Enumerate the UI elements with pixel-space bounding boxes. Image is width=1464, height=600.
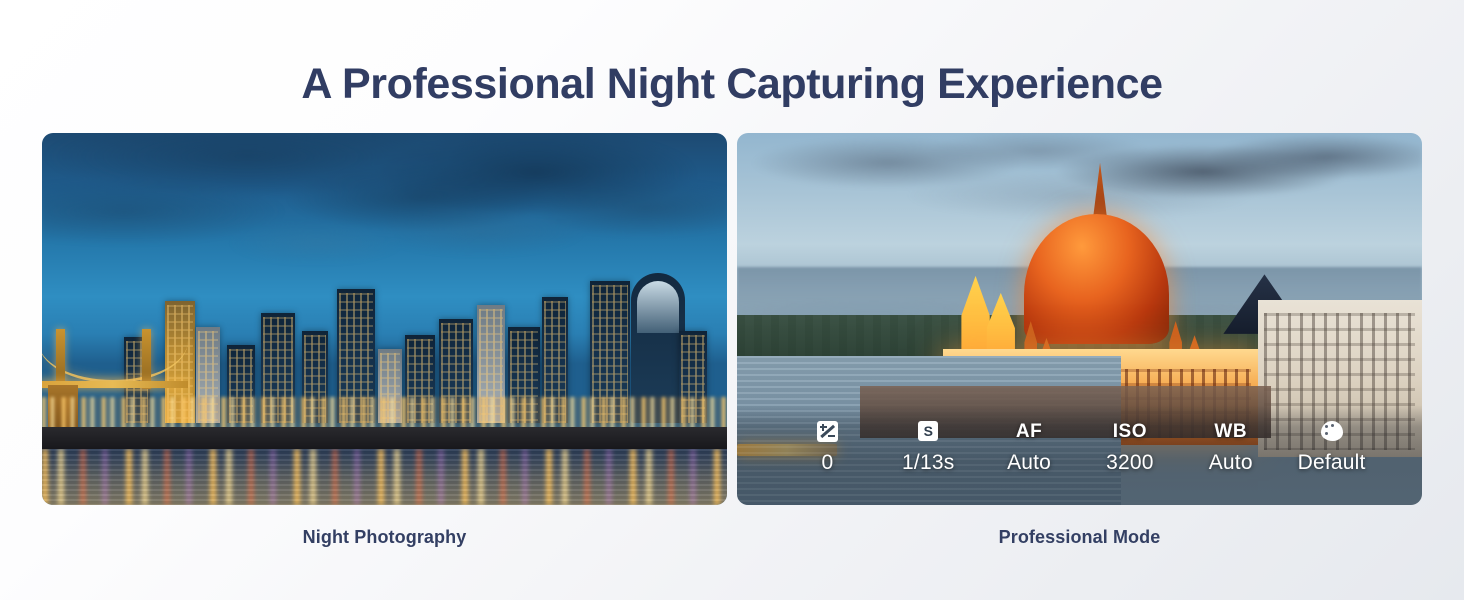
- camera-control-iso[interactable]: ISO 3200: [1079, 419, 1180, 473]
- panel-captions: Night Photography Professional Mode: [42, 527, 1422, 557]
- central-dome: [1024, 214, 1169, 344]
- white-balance-icon: WB: [1214, 419, 1247, 443]
- promo-banner: A Professional Night Capturing Experienc…: [0, 0, 1464, 600]
- camera-control-focus[interactable]: AF Auto: [979, 419, 1080, 473]
- white-balance-icon-label: WB: [1214, 422, 1247, 441]
- color-style-value: Default: [1298, 452, 1366, 473]
- camera-control-shutter[interactable]: S 1/13s: [878, 419, 979, 473]
- exposure-value: 0: [821, 452, 833, 473]
- bridge-pylon: [142, 329, 151, 389]
- caption-night-photography: Night Photography: [42, 527, 727, 557]
- shutter-value: 1/13s: [902, 452, 954, 473]
- color-style-palette-icon: [1321, 419, 1343, 443]
- white-balance-value: Auto: [1209, 452, 1253, 473]
- camera-control-overlay[interactable]: 0 S 1/13s AF Auto ISO: [737, 405, 1422, 505]
- page-title: A Professional Night Capturing Experienc…: [0, 60, 1464, 109]
- shutter-speed-icon: S: [918, 419, 938, 443]
- camera-control-white-balance[interactable]: WB Auto: [1180, 419, 1281, 473]
- image-panels: 0 S 1/13s AF Auto ISO: [42, 133, 1422, 505]
- iso-icon-label: ISO: [1113, 422, 1147, 441]
- bridge-pylon: [56, 329, 65, 389]
- exposure-compensation-icon: [817, 419, 838, 443]
- iso-value: 3200: [1106, 452, 1154, 473]
- riverbank: [42, 427, 727, 449]
- iso-icon: ISO: [1113, 419, 1147, 443]
- focus-value: Auto: [1007, 452, 1051, 473]
- camera-control-color-style[interactable]: Default: [1281, 419, 1382, 473]
- shutter-icon-label: S: [918, 421, 938, 441]
- caption-professional-mode: Professional Mode: [737, 527, 1422, 557]
- panel-professional-mode: 0 S 1/13s AF Auto ISO: [737, 133, 1422, 505]
- camera-control-exposure[interactable]: 0: [777, 419, 878, 473]
- river-reflections: [42, 449, 727, 505]
- autofocus-icon-label: AF: [1016, 422, 1042, 441]
- panel-night-photography: [42, 133, 727, 505]
- autofocus-icon: AF: [1016, 419, 1042, 443]
